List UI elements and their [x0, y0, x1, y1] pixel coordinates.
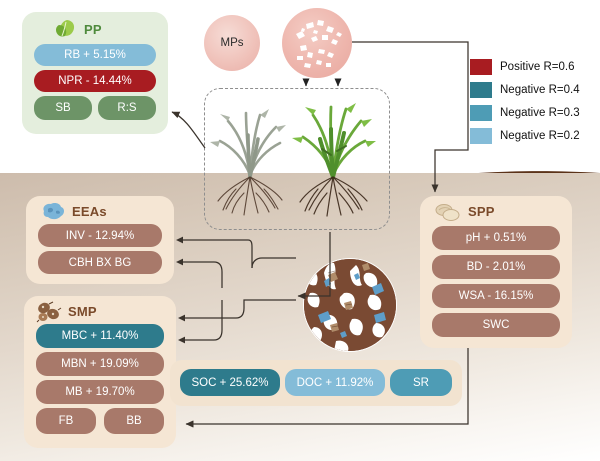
- carbon-item-soc[interactable]: SOC + 25.62%: [180, 369, 280, 396]
- pp-item-rs[interactable]: R:S: [98, 96, 156, 120]
- spp-item-wsa[interactable]: WSA - 16.15%: [432, 284, 560, 308]
- legend-swatch-negative-02: [470, 128, 492, 144]
- rail-smp-1: [180, 300, 296, 318]
- panel-soil-microbial-properties: SMP MBC + 11.40% MBN + 19.09% MB + 19.70…: [24, 296, 176, 448]
- arrowhead-eea-2: [176, 259, 183, 266]
- rail-eea-1: [252, 258, 296, 268]
- legend-row-negative-03: Negative R=0.3: [470, 104, 596, 123]
- pp-item-rb[interactable]: RB + 5.15%: [34, 44, 156, 66]
- pp-item-npr[interactable]: NPR - 14.44%: [34, 70, 156, 92]
- smp-item-fb[interactable]: FB: [36, 408, 96, 434]
- rail-smp-2: [180, 300, 222, 340]
- arrowhead-spp-to-smp: [186, 421, 193, 428]
- legend-row-negative-04: Negative R=0.4: [470, 81, 596, 100]
- arrowhead-smp-2: [178, 337, 185, 344]
- panel-soil-physical-properties: SPP pH + 0.51% BD - 2.01% WSA - 16.15% S…: [420, 196, 572, 348]
- arrow-plant-to-pp: [172, 112, 205, 148]
- arrow-plant-to-aggregate: [298, 232, 330, 296]
- rail-eea-1b: [178, 240, 252, 268]
- legend-swatch-negative-03: [470, 105, 492, 121]
- carbon-item-doc[interactable]: DOC + 11.92%: [285, 369, 385, 396]
- legend-label-negative-03: Negative R=0.3: [500, 104, 580, 122]
- legend-swatch-positive: [470, 59, 492, 75]
- pp-item-sb[interactable]: SB: [34, 96, 92, 120]
- spp-item-bd[interactable]: BD - 2.01%: [432, 255, 560, 279]
- panel-title-smp: SMP: [68, 304, 97, 319]
- panel-title-pp: PP: [84, 22, 102, 37]
- legend-row-negative-02: Negative R=0.2: [470, 127, 596, 146]
- smp-item-mb[interactable]: MB + 19.70%: [36, 380, 164, 404]
- legend-label-negative-02: Negative R=0.2: [500, 127, 580, 145]
- leaf-icon: [54, 18, 78, 40]
- smp-item-mbc[interactable]: MBC + 11.40%: [36, 324, 164, 348]
- enzyme-icon: [40, 201, 66, 221]
- panel-title-spp: SPP: [468, 204, 495, 219]
- arrowhead-eea-1: [176, 237, 183, 244]
- eea-item-inv[interactable]: INV - 12.94%: [38, 224, 162, 247]
- legend: Positive R=0.6 Negative R=0.4 Negative R…: [470, 58, 596, 150]
- spp-item-swc[interactable]: SWC: [432, 313, 560, 337]
- legend-label-positive: Positive R=0.6: [500, 58, 574, 76]
- carbon-item-sr[interactable]: SR: [390, 369, 452, 396]
- legend-label-negative-04: Negative R=0.4: [500, 81, 580, 99]
- legend-row-positive: Positive R=0.6: [470, 58, 596, 77]
- legend-swatch-negative-04: [470, 82, 492, 98]
- panel-title-eeas: EEAs: [72, 204, 107, 219]
- eea-item-cbh-bx-bg[interactable]: CBH BX BG: [38, 251, 162, 274]
- spp-item-ph[interactable]: pH + 0.51%: [432, 226, 560, 250]
- diagram-canvas: MPs: [0, 0, 600, 461]
- panel-extracellular-enzyme-activities: EEAs INV - 12.94% CBH BX BG: [26, 196, 174, 284]
- rail-eea-2: [178, 262, 222, 288]
- panel-plant-properties: PP RB + 5.15% NPR - 14.44% SB R:S: [22, 12, 168, 134]
- smp-item-mbn[interactable]: MBN + 19.09%: [36, 352, 164, 376]
- arrow-mps-to-spp: [352, 42, 468, 192]
- microbe-icon: [36, 301, 62, 323]
- smp-item-bb[interactable]: BB: [104, 408, 164, 434]
- panel-carbon-fluxes: SOC + 25.62% DOC + 11.92% SR: [170, 360, 462, 406]
- arrowhead-smp-1: [178, 315, 185, 322]
- soil-aggregate-icon: [434, 202, 462, 222]
